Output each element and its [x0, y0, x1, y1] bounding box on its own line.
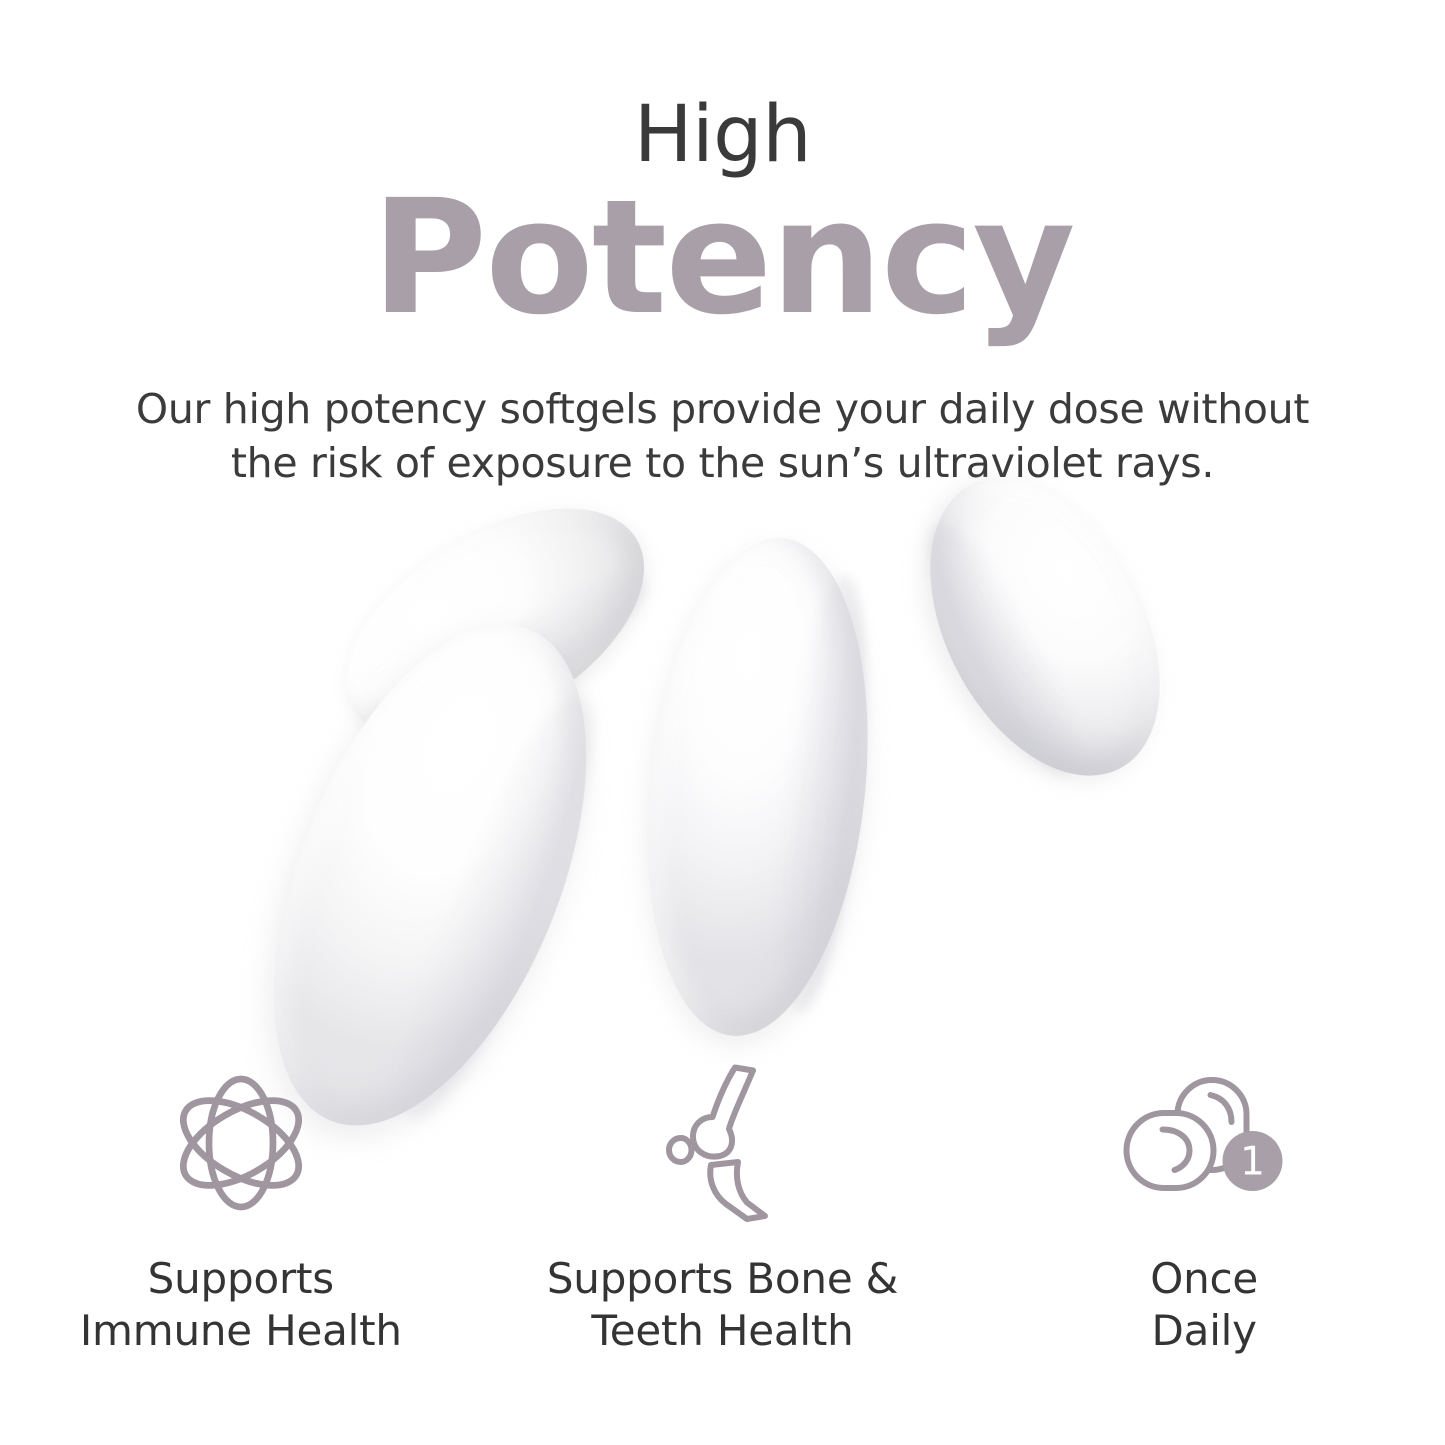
softgel-capsule-right — [883, 440, 1206, 815]
dose-badge-number: 1 — [1240, 1139, 1265, 1184]
benefit-label-immune: Supports Immune Health — [80, 1253, 402, 1357]
benefit-item-once-daily: 1 Once Daily — [963, 1060, 1445, 1357]
benefit-label-bone-teeth: Supports Bone & Teeth Health — [547, 1253, 898, 1357]
benefit-item-bone-teeth: Supports Bone & Teeth Health — [482, 1060, 964, 1357]
heading-block: High Potency — [0, 96, 1445, 339]
softgel-capsules-icon: 1 — [1117, 1060, 1292, 1225]
benefit-item-immune: Supports Immune Health — [0, 1060, 482, 1357]
benefits-row: Supports Immune Health Supports Bone & T… — [0, 1060, 1445, 1357]
product-feature-panel: High Potency Our high potency softgels p… — [0, 0, 1445, 1445]
product-image-softgels — [255, 515, 1215, 1085]
benefit-label-once-daily: Once Daily — [1150, 1253, 1258, 1357]
bone-joint-icon — [648, 1060, 798, 1225]
atom-icon — [161, 1060, 321, 1225]
page-subtitle: Our high potency softgels provide your d… — [133, 382, 1313, 490]
page-title-line1: High — [0, 96, 1445, 174]
softgel-capsule-center — [624, 527, 890, 1047]
page-title-line2: Potency — [0, 178, 1445, 339]
